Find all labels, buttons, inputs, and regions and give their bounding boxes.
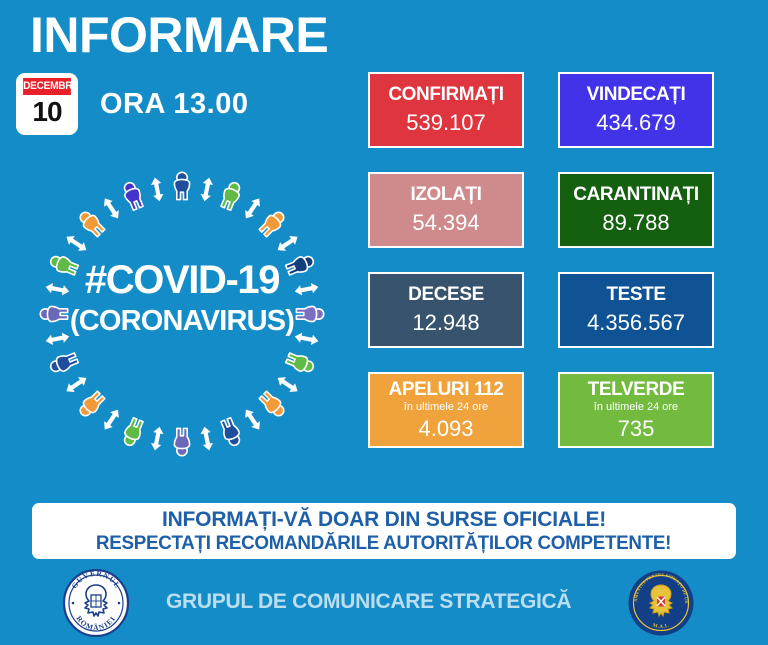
stat-box-telverde: TELVERDEîn ultimele 24 ore735 — [558, 372, 714, 448]
departamentul-situatii-urgenta-logo: DEPARTAMENTUL PENTRU SITUAȚII DE URGENȚĂ… — [627, 569, 695, 642]
person-figure-icon — [121, 417, 145, 448]
double-arrow-icon — [199, 426, 214, 452]
stat-label-telverde: TELVERDE — [588, 379, 685, 401]
stat-value-teste: 4.356.567 — [587, 309, 685, 336]
double-arrow-icon — [242, 407, 264, 433]
stat-box-confirmati: CONFIRMAȚI539.107 — [368, 72, 524, 148]
stat-value-apeluri-112: 4.093 — [418, 415, 473, 442]
double-arrow-icon — [150, 177, 165, 203]
double-arrow-icon — [150, 426, 165, 452]
stat-box-izolati: IZOLAȚI54.394 — [368, 172, 524, 248]
hour-label: ORA 13.00 — [100, 88, 249, 121]
statistics-grid: CONFIRMAȚI539.107VINDECAȚI434.679IZOLAȚI… — [368, 72, 714, 448]
person-figure-icon — [258, 208, 288, 238]
person-figure-icon — [121, 180, 145, 211]
stat-value-telverde: 735 — [618, 415, 655, 442]
stat-box-decese: DECESE12.948 — [368, 272, 524, 348]
calendar-month-label: DECEMBRIE — [23, 78, 71, 95]
calendar-icon: DECEMBRIE 10 — [16, 73, 78, 135]
stat-label-izolati: IZOLAȚI — [410, 184, 481, 206]
double-arrow-icon — [64, 374, 90, 396]
date-row: DECEMBRIE 10 ORA 13.00 — [16, 73, 249, 135]
stat-label-vindecati: VINDECAȚI — [587, 84, 686, 106]
person-figure-icon — [48, 351, 79, 375]
person-figure-icon — [174, 428, 189, 455]
covid-hashtag-text: #COVID-19 — [22, 258, 342, 302]
banner-line-2: RESPECTAȚI RECOMANDĂRILE AUTORITĂȚILOR C… — [96, 532, 671, 555]
stat-label-carantinati: CARANTINAȚI — [573, 184, 698, 206]
person-figure-icon — [219, 180, 243, 211]
guvernul-romaniei-logo: GUVERNUL ROMÂNIEI — [62, 569, 130, 642]
double-arrow-icon — [100, 196, 122, 222]
person-figure-icon — [174, 172, 189, 199]
double-arrow-icon — [100, 407, 122, 433]
stat-label-decese: DECESE — [408, 284, 484, 306]
stat-box-teste: TESTE4.356.567 — [558, 272, 714, 348]
page-title: INFORMARE — [30, 4, 328, 66]
stat-value-decese: 12.948 — [412, 309, 479, 336]
person-figure-icon — [258, 390, 288, 420]
people-circle-illustration: #COVID-19 (CORONAVIRUS) — [22, 162, 342, 472]
footer: GUVERNUL ROMÂNIEI GRUPUL DE COMUNICARE S… — [0, 562, 768, 645]
person-figure-icon — [76, 208, 106, 238]
person-figure-icon — [76, 390, 106, 420]
calendar-day-label: 10 — [21, 95, 73, 131]
banner-line-1: INFORMAȚI-VĂ DOAR DIN SURSE OFICIALE! — [162, 508, 606, 532]
stat-box-carantinati: CARANTINAȚI89.788 — [558, 172, 714, 248]
double-arrow-icon — [275, 232, 301, 254]
person-figure-icon — [285, 351, 316, 375]
stat-sublabel-telverde: în ultimele 24 ore — [594, 401, 678, 414]
stat-label-teste: TESTE — [606, 284, 665, 306]
stat-box-vindecati: VINDECAȚI434.679 — [558, 72, 714, 148]
double-arrow-icon — [275, 374, 301, 396]
double-arrow-icon — [64, 232, 90, 254]
coronavirus-subtitle-text: (CORONAVIRUS) — [22, 304, 342, 338]
stat-sublabel-apeluri-112: în ultimele 24 ore — [404, 401, 488, 414]
person-figure-icon — [219, 417, 243, 448]
covid-information-poster: INFORMARE DECEMBRIE 10 ORA 13.00 #COVID-… — [0, 0, 768, 645]
stat-value-carantinati: 89.788 — [602, 209, 669, 236]
stat-value-izolati: 54.394 — [412, 209, 479, 236]
stat-box-apeluri-112: APELURI 112în ultimele 24 ore4.093 — [368, 372, 524, 448]
stat-value-vindecati: 434.679 — [596, 109, 676, 136]
footer-organization-text: GRUPUL DE COMUNICARE STRATEGICĂ — [166, 590, 571, 614]
official-sources-banner: INFORMAȚI-VĂ DOAR DIN SURSE OFICIALE! RE… — [32, 503, 736, 559]
stat-label-apeluri-112: APELURI 112 — [389, 379, 504, 401]
stat-value-confirmati: 539.107 — [406, 109, 486, 136]
double-arrow-icon — [242, 196, 264, 222]
stat-label-confirmati: CONFIRMAȚI — [388, 84, 503, 106]
double-arrow-icon — [199, 177, 214, 203]
